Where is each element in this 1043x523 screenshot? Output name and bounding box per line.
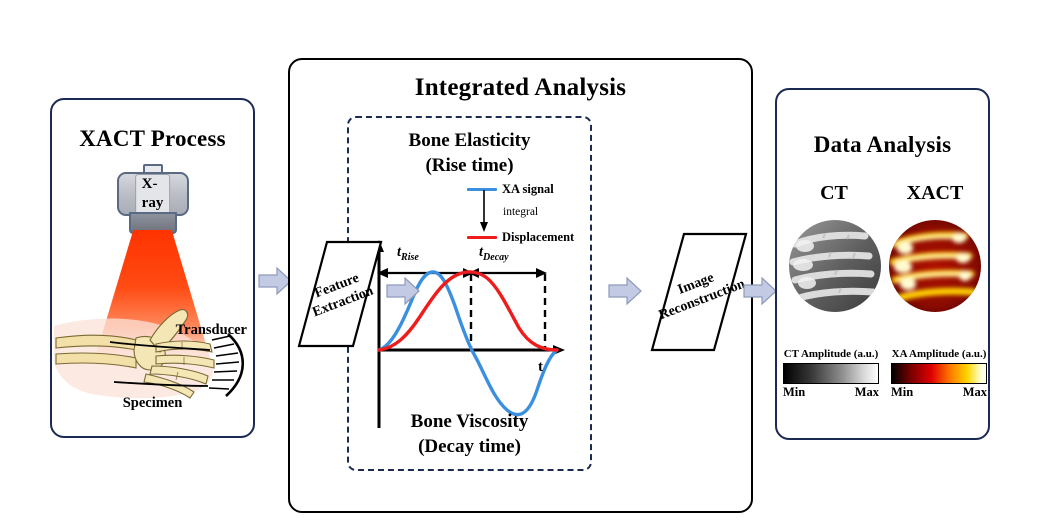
xact-panel-title: XACT Process	[52, 126, 253, 152]
specimen-label: Specimen	[52, 395, 253, 412]
analysis-panel-title: Integrated Analysis	[290, 74, 751, 102]
arrow-connector-3	[608, 276, 642, 311]
transducer-label: Transducer	[176, 322, 247, 339]
xact-colorbar-min: Min	[891, 385, 913, 400]
data-panel-title: Data Analysis	[777, 132, 988, 158]
legend-label-xa-signal: XA signal	[502, 182, 554, 197]
bone-viscosity-heading: Bone Viscosity (Decay time)	[349, 409, 590, 459]
ct-hand-image	[789, 220, 881, 312]
ct-colorbar: CT Amplitude (a.u.) Min Max	[777, 348, 885, 400]
bone-viscosity-line1: Bone Viscosity	[349, 409, 590, 434]
bone-elasticity-line2: (Rise time)	[349, 153, 590, 178]
xact-colorbar: XA Amplitude (a.u.) Min Max	[885, 348, 993, 400]
ct-colorbar-gradient	[783, 363, 879, 384]
waveform-plot: tRise tDecay t	[361, 238, 583, 433]
xact-hand-image	[889, 220, 981, 312]
t-decay-annotation: tDecay	[479, 244, 509, 263]
feature-extraction-step: Feature Extraction	[297, 240, 383, 348]
integral-arrow-icon	[477, 190, 491, 234]
xact-process-panel: XACT Process X-ray	[50, 98, 255, 438]
image-reconstruction-step: Image Reconstruction	[650, 232, 748, 352]
xact-colorbar-max: Max	[963, 385, 987, 400]
xact-colorbar-gradient	[891, 363, 987, 384]
data-analysis-panel: Data Analysis CT XACT	[775, 88, 990, 440]
x-axis-label: t	[538, 359, 543, 376]
xray-source-label: X-ray	[135, 174, 171, 214]
ct-image-caption: CT	[785, 182, 883, 205]
bone-elasticity-heading: Bone Elasticity (Rise time)	[349, 128, 590, 178]
arrow-connector-4	[743, 276, 777, 311]
hand-specimen-illustration	[52, 300, 253, 410]
ct-colorbar-max: Max	[855, 385, 879, 400]
ct-colorbar-title: CT Amplitude (a.u.)	[777, 348, 885, 360]
legend-integral-label: integral	[503, 206, 538, 218]
t-rise-annotation: tRise	[397, 244, 419, 263]
xray-source-body-icon: X-ray	[117, 172, 189, 216]
bone-elasticity-line1: Bone Elasticity	[349, 128, 590, 153]
xact-colorbar-title: XA Amplitude (a.u.)	[885, 348, 993, 360]
xact-image-caption: XACT	[885, 182, 985, 205]
arrow-connector-2	[386, 276, 420, 311]
ct-colorbar-min: Min	[783, 385, 805, 400]
bone-viscosity-line2: (Decay time)	[349, 434, 590, 459]
